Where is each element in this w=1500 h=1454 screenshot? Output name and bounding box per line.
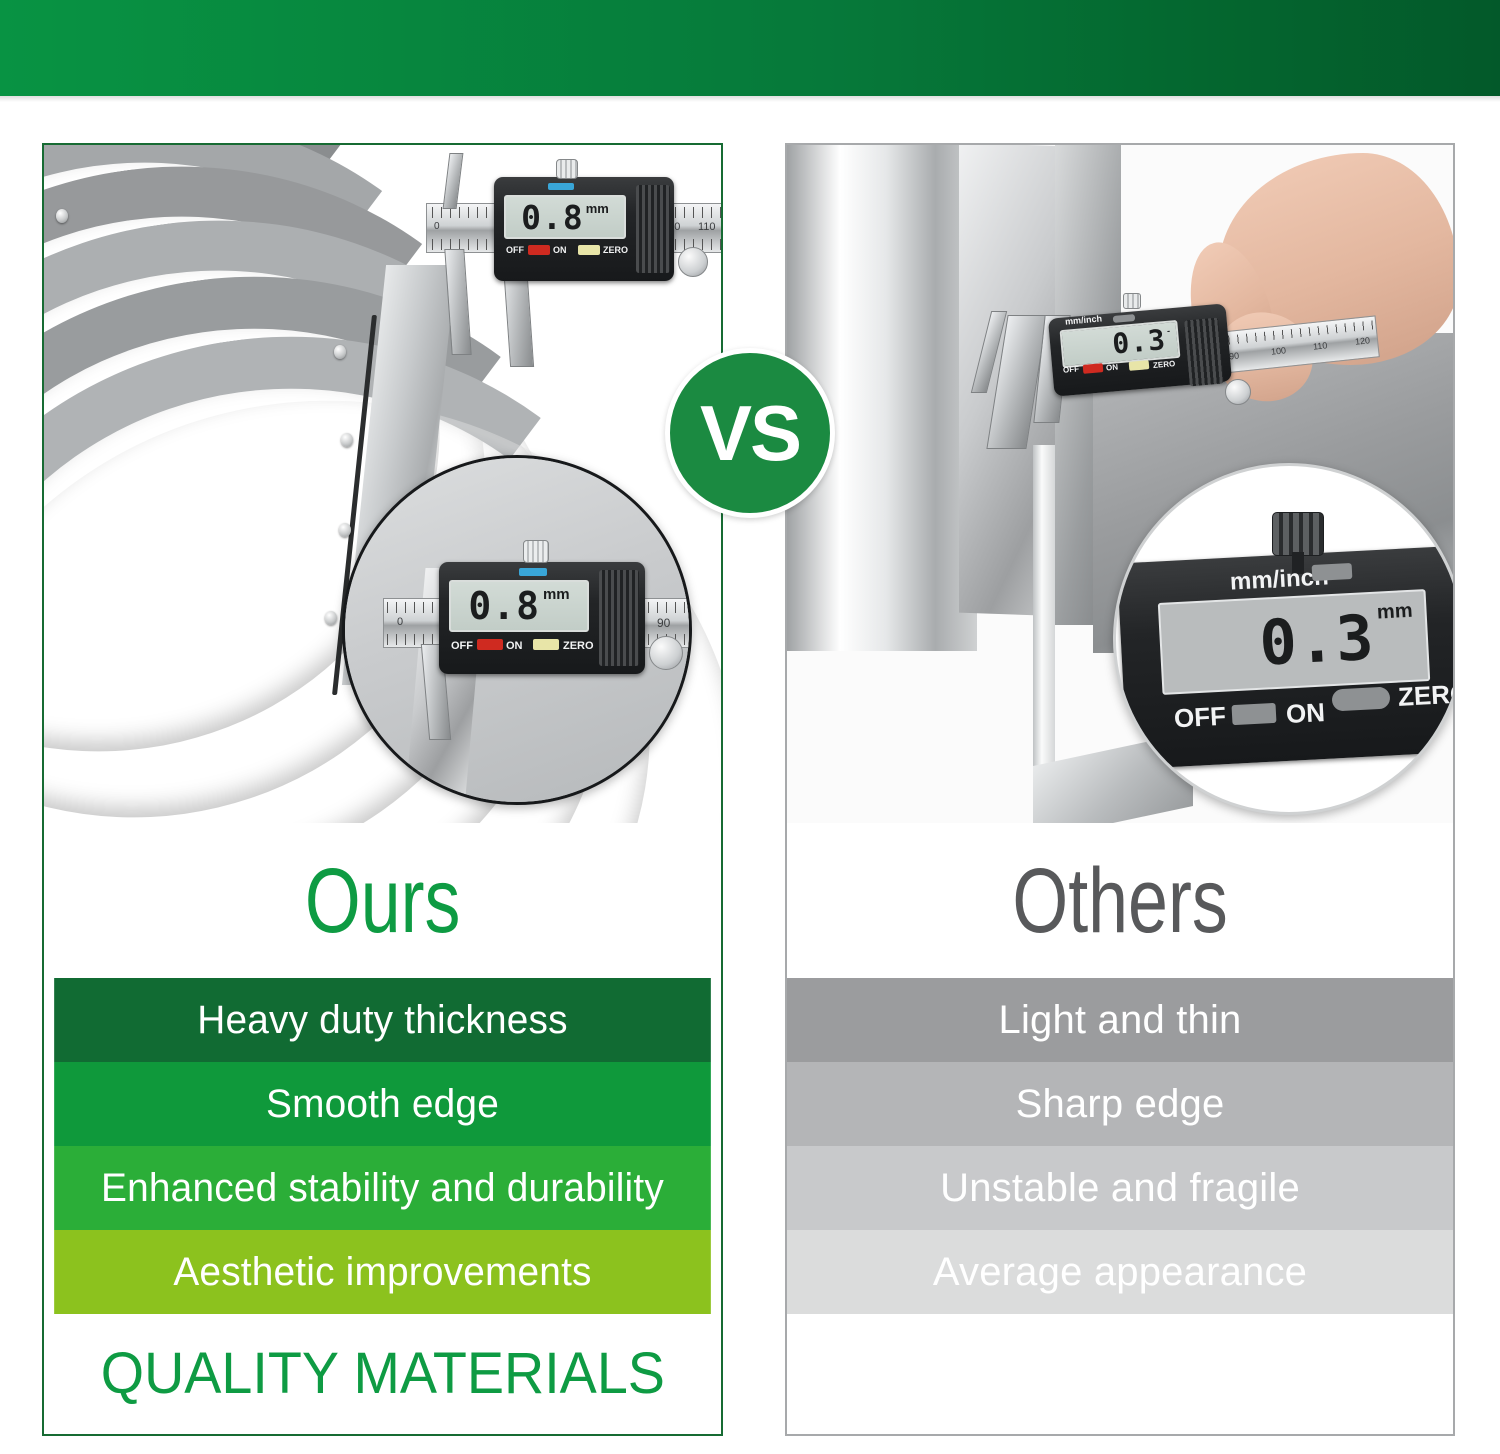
bolt — [325, 611, 337, 625]
caliper-power-switch — [528, 245, 550, 255]
caliper-ruler-number: 110 — [698, 221, 716, 233]
caliper-lower-jaw — [444, 249, 471, 355]
caliper-ruler-number: 110 — [1313, 340, 1328, 351]
caliper-blue-button — [548, 183, 574, 190]
caliper-lcd-display: 0.8 mm — [504, 195, 626, 239]
corrugated-flute — [787, 513, 977, 559]
corrugated-flute — [787, 559, 977, 605]
ours-feature-label: Enhanced stability and durability — [101, 1166, 664, 1211]
caliper-ruler-number: 120 — [1355, 335, 1371, 347]
caliper-lock-wheel — [678, 247, 708, 277]
ours-title-row: Ours — [44, 823, 721, 978]
caliper-unit: mm — [586, 201, 609, 216]
caliper-lock-wheel — [1225, 379, 1251, 405]
ours-feature-label: Heavy duty thickness — [197, 998, 567, 1043]
caliper-zero-label: ZERO — [563, 640, 594, 652]
caliper-off-label: OFF — [451, 640, 473, 652]
caliper-knurl — [636, 185, 670, 273]
bolt — [334, 345, 346, 359]
corrugated-flute — [787, 145, 977, 191]
caliper-unit: mm — [1376, 600, 1413, 625]
corrugated-flute — [787, 237, 977, 283]
caliper-lock-wheel — [649, 636, 683, 670]
caliper-value: 0.8 — [521, 201, 584, 234]
corrugated-flute — [787, 191, 977, 237]
vs-badge: VS — [665, 348, 835, 518]
caliper-on-label: ON — [1285, 697, 1326, 730]
others-feature-row: Unstable and fragile — [787, 1146, 1453, 1230]
ours-feature-row: Heavy duty thickness — [54, 978, 711, 1062]
caliper-zero-label: ZERO — [603, 245, 628, 255]
ours-feature-row: Smooth edge — [54, 1062, 711, 1146]
ours-feature-row: Aesthetic improvements — [54, 1230, 711, 1314]
caliper-value: 0.8 — [468, 587, 540, 625]
digital-caliper: 0 90 100 110 0.8 mm OFF ON ZERO — [396, 155, 721, 355]
ours-magnifier-inset: 0 90 0.8 mm OFF ON ZERO — [342, 455, 692, 805]
others-feature-row: Average appearance — [787, 1230, 1453, 1314]
others-feature-row: Light and thin — [787, 978, 1453, 1062]
others-panel: 20 80 90 100 110 120 mm/inch 0.3 - OFF O… — [785, 143, 1455, 1436]
caliper-mode-button — [1312, 563, 1353, 581]
others-feature-label: Average appearance — [933, 1250, 1307, 1295]
top-green-banner — [0, 0, 1500, 96]
caliper-on-label: ON — [1106, 362, 1119, 372]
caliper-value: 0.3 — [1258, 607, 1376, 675]
caliper-unit: - — [1167, 326, 1171, 336]
digital-caliper: 20 80 90 100 110 120 mm/inch 0.3 - OFF O… — [973, 263, 1383, 493]
caliper-zero-button — [578, 245, 600, 255]
caliper-zero-label: ZERO — [1397, 678, 1453, 713]
caliper-zero-label: ZERO — [1153, 359, 1176, 370]
others-feature-label: Sharp edge — [1016, 1082, 1225, 1127]
caliper-thumb-screw — [1272, 512, 1324, 556]
ours-panel: 0 90 100 110 0.8 mm OFF ON ZERO — [42, 143, 723, 1436]
caliper-off-label: OFF — [506, 245, 524, 255]
ours-product-photo: 0 90 100 110 0.8 mm OFF ON ZERO — [44, 145, 721, 823]
ours-feature-row: Enhanced stability and durability — [54, 1146, 711, 1230]
others-feature-row: Sharp edge — [787, 1062, 1453, 1146]
caliper-lcd-display: 0.8 mm — [449, 580, 589, 632]
caliper-zero-button — [1129, 360, 1150, 371]
bolt — [56, 209, 68, 223]
inset-digital-caliper: 0 90 0.8 mm OFF ON ZERO — [367, 516, 692, 746]
caliper-power-switch — [1083, 363, 1104, 374]
caliper-zero-button — [533, 639, 559, 650]
ours-footer: QUALITY MATERIALS — [44, 1314, 721, 1432]
banner-shadow — [0, 96, 1500, 102]
corrugated-flute — [787, 283, 977, 329]
caliper-thumb-screw — [1123, 293, 1141, 309]
caliper-thumb-screw — [556, 159, 578, 179]
caliper-ruler-number: 100 — [1271, 345, 1287, 357]
ours-title: Ours — [305, 855, 461, 947]
ours-feature-label: Smooth edge — [266, 1082, 499, 1127]
caliper-knurl — [1184, 318, 1224, 387]
caliper-on-label: ON — [506, 640, 523, 652]
caliper-value: 0.3 — [1111, 326, 1167, 359]
caliper-power-switch — [477, 639, 503, 650]
others-footer — [787, 1314, 1453, 1432]
others-product-photo: 20 80 90 100 110 120 mm/inch 0.3 - OFF O… — [787, 145, 1453, 823]
quality-materials-text: QUALITY MATERIALS — [100, 1340, 664, 1407]
corrugated-flute — [787, 329, 977, 375]
caliper-thumb-screw — [523, 540, 549, 563]
others-title: Others — [1012, 855, 1227, 947]
caliper-on-label: ON — [553, 245, 567, 255]
vs-label: VS — [700, 388, 800, 479]
caliper-blue-button — [519, 568, 547, 576]
caliper-knurl — [599, 570, 639, 666]
caliper-unit: mm — [543, 586, 570, 603]
caliper-off-label: OFF — [1173, 701, 1227, 735]
others-feature-label: Light and thin — [999, 998, 1242, 1043]
caliper-zero-button — [1331, 686, 1390, 711]
ours-feature-label: Aesthetic improvements — [173, 1250, 591, 1295]
caliper-ruler-number: 0 — [434, 221, 440, 232]
caliper-ruler-number: 90 — [657, 616, 670, 630]
caliper-upper-jaw — [443, 153, 464, 209]
caliper-ruler-number: 0 — [397, 616, 403, 628]
others-title-row: Others — [787, 823, 1453, 978]
others-magnifier-inset: mm/inch 0.3 mm OFF ON ZERO — [1113, 463, 1453, 815]
others-feature-label: Unstable and fragile — [940, 1166, 1300, 1211]
corrugated-flute — [787, 605, 977, 651]
caliper-lcd-display: 0.3 mm — [1158, 589, 1430, 695]
caliper-power-switch — [1232, 703, 1277, 725]
bolt — [341, 433, 353, 447]
caliper-off-label: OFF — [1063, 364, 1080, 374]
